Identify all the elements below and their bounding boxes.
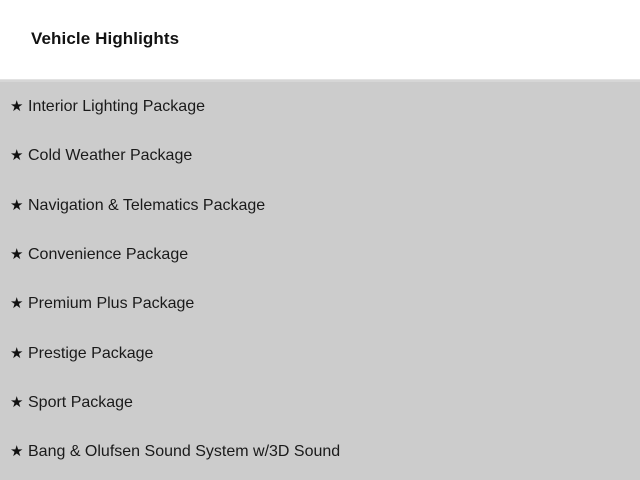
list-item[interactable]: ★ Convenience Package (0, 230, 640, 279)
star-icon: ★ (10, 296, 28, 311)
list-item-label: Cold Weather Package (28, 146, 192, 165)
list-item-label: Convenience Package (28, 245, 188, 264)
list-item[interactable]: ★ Sport Package (0, 378, 640, 427)
list-item-label: Bang & Olufsen Sound System w/3D Sound (28, 442, 340, 461)
list-item-label: Prestige Package (28, 344, 153, 363)
vehicle-highlights-panel: Vehicle Highlights ★ Interior Lighting P… (0, 0, 640, 480)
list-item-label: Sport Package (28, 393, 133, 412)
star-icon: ★ (10, 148, 28, 163)
star-icon: ★ (10, 395, 28, 410)
list-item-label: Premium Plus Package (28, 294, 194, 313)
list-item[interactable]: ★ Bang & Olufsen Sound System w/3D Sound (0, 427, 640, 476)
list-item[interactable]: ★ Interior Lighting Package (0, 82, 640, 131)
star-icon: ★ (10, 99, 28, 114)
list-item-label: Navigation & Telematics Package (28, 196, 265, 215)
star-icon: ★ (10, 444, 28, 459)
vehicle-highlights-list: ★ Interior Lighting Package ★ Cold Weath… (0, 82, 640, 480)
star-icon: ★ (10, 346, 28, 361)
list-item-label: Interior Lighting Package (28, 97, 205, 116)
star-icon: ★ (10, 198, 28, 213)
panel-header: Vehicle Highlights (0, 0, 640, 79)
list-item[interactable]: ★ Premium Plus Package (0, 279, 640, 328)
list-item[interactable]: ★ Cold Weather Package (0, 131, 640, 180)
list-item[interactable]: ★ Navigation & Telematics Package (0, 181, 640, 230)
list-item[interactable]: ★ Prestige Package (0, 328, 640, 377)
star-icon: ★ (10, 247, 28, 262)
page-title: Vehicle Highlights (31, 29, 179, 49)
